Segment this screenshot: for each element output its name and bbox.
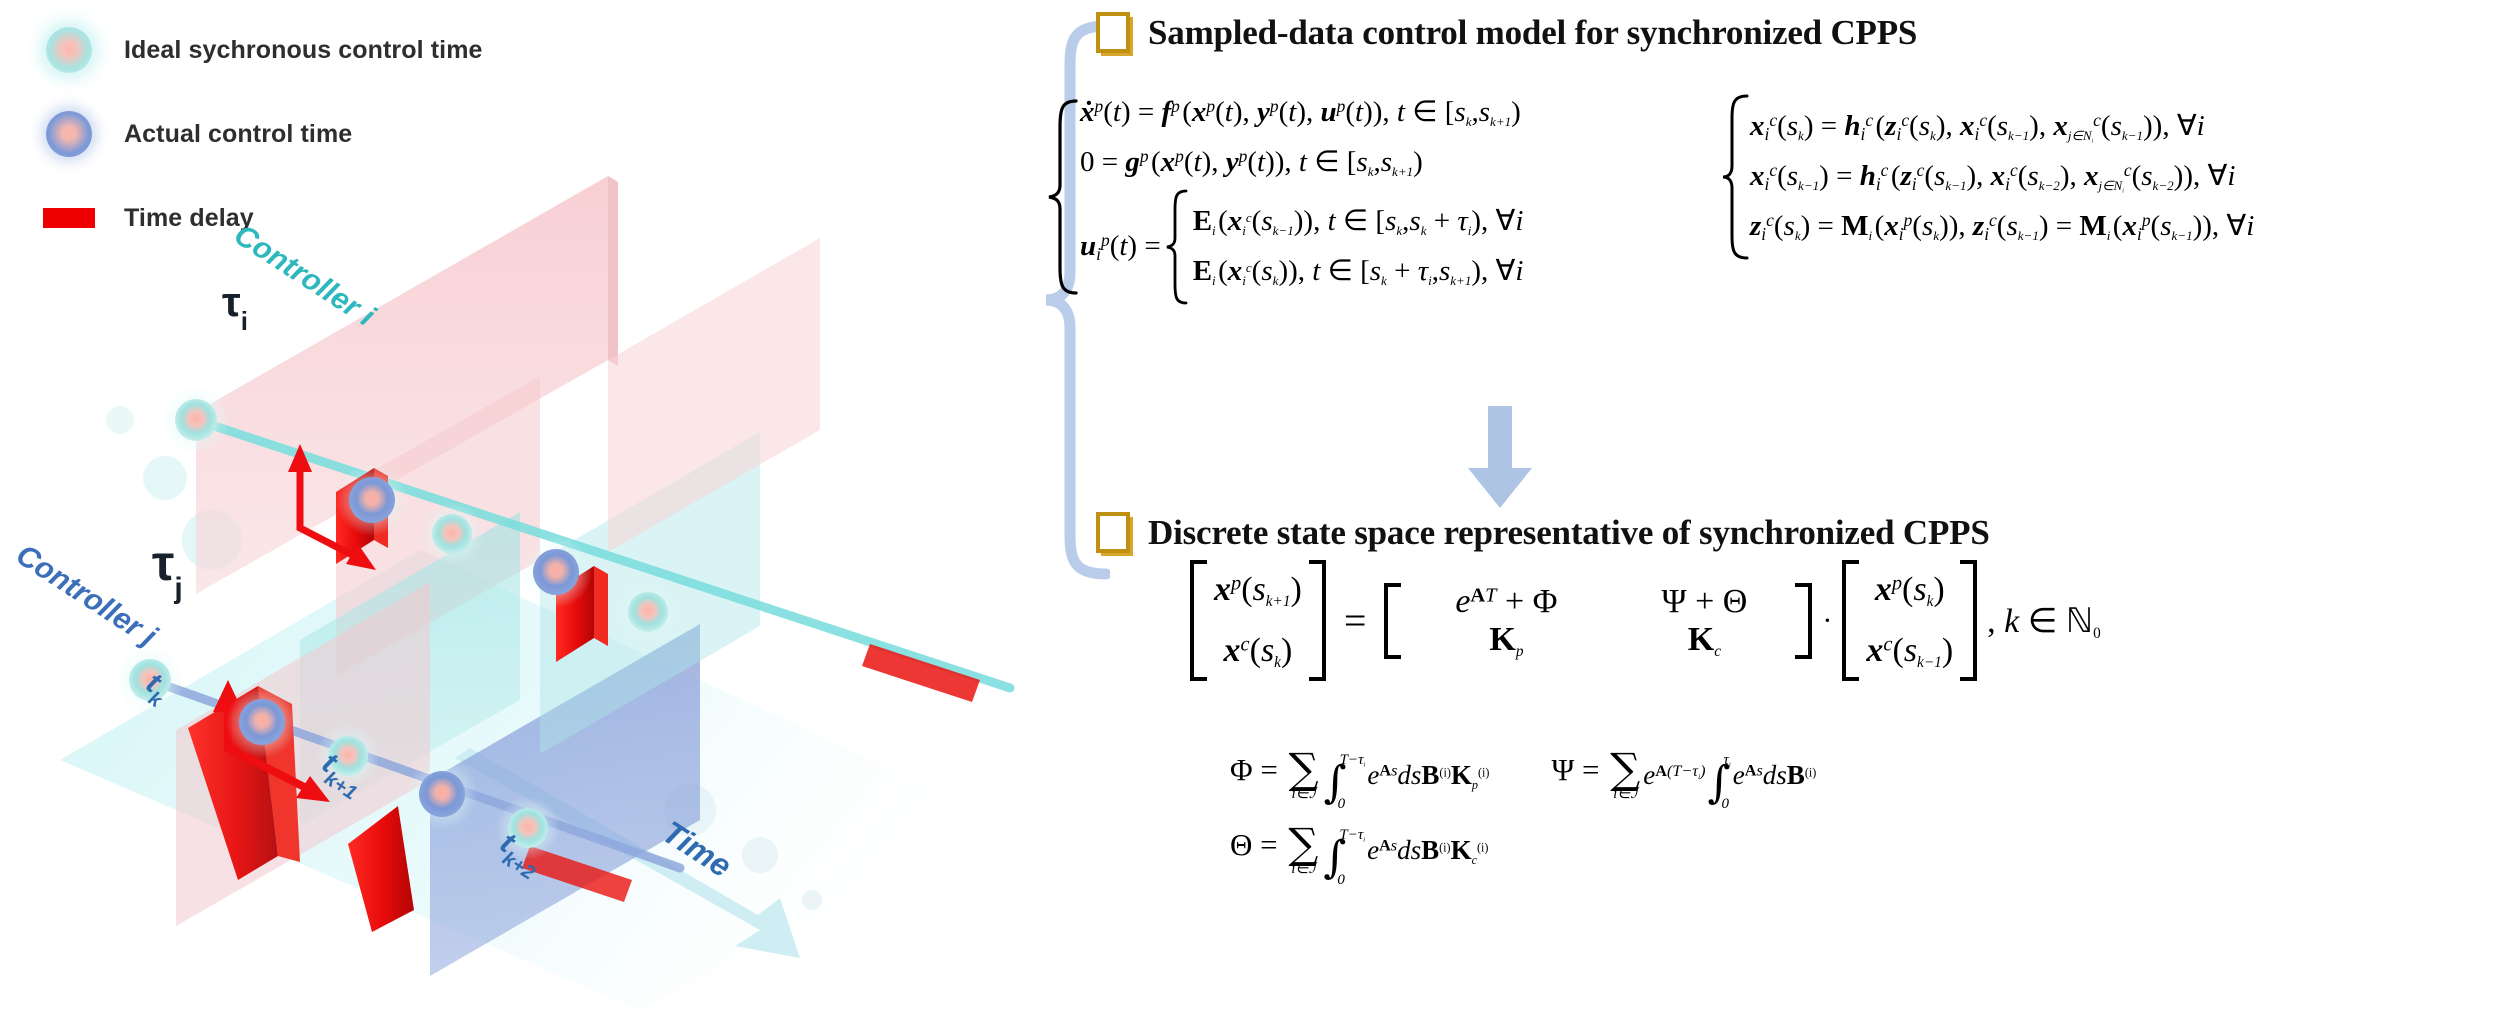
legend-label-ideal: Ideal sychronous control time	[124, 36, 483, 65]
control-law-brace-icon	[1165, 188, 1189, 306]
down-arrow-icon	[1466, 406, 1534, 510]
node-ideal	[628, 592, 668, 632]
matrix-equation-suffix: , k ∈ ℕ0	[1977, 601, 2101, 641]
sum-operator-phi: ∑i∈ℐ	[1289, 752, 1319, 802]
plant-model-system: ẋp(t) = fp (xp(t), yp(t), up(t)), t ∈ [s…	[1046, 88, 1523, 306]
controller-i-label: Controller i	[228, 218, 381, 333]
dot-operator: ·	[1812, 604, 1842, 638]
plant-eq-2: 0 = gp (xp(t), yp(t)), t ∈ [sk,sk+1)	[1080, 138, 1523, 188]
matrix-cell-11: eAT + Φ	[1455, 583, 1557, 621]
right-system-brace-icon	[1720, 92, 1750, 262]
coefficient-definitions: Φ = ∑i∈ℐ T−τi∫0 eAsdsB(i)Kp(i) Ψ = ∑i∈ℐ …	[1230, 752, 1816, 903]
cyber-eq-1: xic(sk) = hic (zic(sk), xic(sk−1), xj∈Ni…	[1750, 102, 2254, 152]
gold-square-bullet-icon	[1096, 512, 1130, 553]
node-actual	[533, 549, 579, 595]
node-actual	[239, 699, 285, 745]
section1-heading: Sampled-data control model for synchroni…	[1096, 12, 1917, 53]
control-law-case-2: Ei (xic(sk)), t ∈ [sk + τi,sk+1), ∀i	[1193, 247, 1524, 297]
cyber-eq-2: xic(sk−1) = hic (zic(sk−1), xic(sk−2), x…	[1750, 152, 2254, 202]
rhs-vector: xp(sk) xc(sk−1)	[1842, 560, 1977, 681]
matrix-cell-22: Kc	[1688, 621, 1721, 659]
tau-i-label: τi	[222, 278, 248, 336]
integral-operator-psi: τi∫0	[1708, 752, 1731, 813]
rhs-vector-row-2: xc(sk−1)	[1858, 621, 1961, 682]
ideal-dot-icon	[40, 27, 98, 73]
plant-eq-1: ẋp(t) = fp (xp(t), yp(t), up(t)), t ∈ [s…	[1080, 88, 1523, 138]
node-actual	[419, 771, 465, 817]
rhs-vector-row-1: xp(sk)	[1867, 560, 1953, 621]
integral-operator-theta: T−τi∫0	[1323, 827, 1365, 888]
matrix-cell-21: Kp	[1489, 621, 1523, 659]
definition-phi: Φ = ∑i∈ℐ T−τi∫0 eAsdsB(i)Kp(i) Ψ = ∑i∈ℐ …	[1230, 752, 1816, 813]
left-system-brace-icon	[1046, 97, 1080, 297]
definition-theta: Θ = ∑i∈ℐ T−τi∫0 eAsdsB(i)Kc(i)	[1230, 827, 1816, 888]
gold-square-bullet-icon	[1096, 12, 1130, 53]
tau-j-label: τj	[152, 535, 183, 605]
sum-operator-theta: ∑i∈ℐ	[1288, 827, 1318, 877]
controller-j-label: Controller j	[10, 538, 163, 653]
node-ideal	[175, 399, 217, 441]
section2-heading: Discrete state space representative of s…	[1096, 512, 1990, 553]
sum-operator-psi: ∑i∈ℐ	[1610, 752, 1640, 802]
cyber-model-system: xic(sk) = hic (zic(sk), xic(sk−1), xj∈Ni…	[1720, 92, 2254, 262]
matrix-cell-12: Ψ + Θ	[1662, 583, 1748, 621]
equals-sign: =	[1326, 597, 1385, 644]
section2-heading-text: Discrete state space representative of s…	[1148, 513, 1990, 553]
state-space-matrix-equation: xp(sk+1) xc(sk) = eAT + Φ Kp	[1190, 560, 2101, 681]
lhs-vector: xp(sk+1) xc(sk)	[1190, 560, 1326, 681]
cyber-eq-3: zic(sk) = Mi (xip(sk)), zic(sk−1) = Mi (…	[1750, 202, 2254, 252]
right-panel: Sampled-data control model for synchroni…	[1040, 0, 2502, 1017]
node-actual	[349, 477, 395, 523]
isometric-timeline-diagram: Controller i Controller j τi τj tk tk+1 …	[0, 120, 1060, 1017]
section1-heading-text: Sampled-data control model for synchroni…	[1148, 13, 1917, 53]
system-matrix: eAT + Φ Kp Ψ + Θ Kc	[1384, 583, 1812, 659]
control-law-case-1: Ei (xic(sk−1)), t ∈ [sk,sk + τi), ∀i	[1193, 197, 1524, 247]
plant-eq-3: uip(t) = Ei (xic(sk−1)), t ∈ [sk,sk + τi…	[1080, 188, 1523, 306]
lhs-vector-row-1: xp(sk+1)	[1206, 560, 1310, 621]
diagram-canvas: Controller i Controller j τi τj tk tk+1 …	[0, 120, 1060, 1017]
legend-item-ideal: Ideal sychronous control time	[40, 22, 640, 78]
node-ideal	[432, 514, 472, 554]
integral-operator-phi: T−τi∫0	[1324, 752, 1366, 813]
lhs-vector-row-2: xc(sk)	[1216, 621, 1301, 682]
